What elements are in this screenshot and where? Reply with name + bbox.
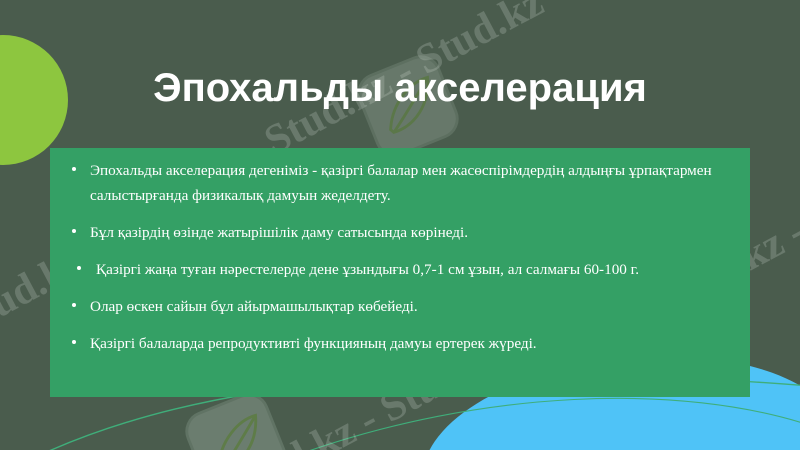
bullet-item: Олар өскен сайын бұл айырмашылықтар көбе… [64,294,732,319]
bullet-item: Қазіргі жаңа туған нәрестелерде дене ұзы… [64,257,732,282]
presentation-slide: Stud.kz - Stud.kz Stud.kz - Stud.kz Stud… [0,0,800,450]
bullet-item: Бұл қазірдің өзінде жатырішілік даму сат… [64,220,732,245]
bullet-dot-icon [72,167,76,171]
content-box: Эпохальды акселерация дегеніміз - қазірг… [50,148,750,397]
bullet-dot-icon [72,303,76,307]
bullet-dot-icon [72,229,76,233]
bullet-text: Олар өскен сайын бұл айырмашылықтар көбе… [90,298,418,315]
bullet-dot-icon [72,340,76,344]
bullet-list: Эпохальды акселерация дегеніміз - қазірг… [64,158,732,356]
bullet-text: Эпохальды акселерация дегеніміз - қазірг… [90,162,712,204]
bullet-item: Эпохальды акселерация дегеніміз - қазірг… [64,158,732,208]
bullet-text: Қазіргі жаңа туған нәрестелерде дене ұзы… [96,261,639,278]
bullet-text: Бұл қазірдің өзінде жатырішілік даму сат… [90,224,468,241]
slide-title: Эпохальды акселерация [0,64,800,112]
bullet-dot-icon [77,266,81,270]
bullet-text: Қазіргі балаларда репродуктивті функциян… [90,335,537,352]
bullet-item: Қазіргі балаларда репродуктивті функциян… [64,331,732,356]
